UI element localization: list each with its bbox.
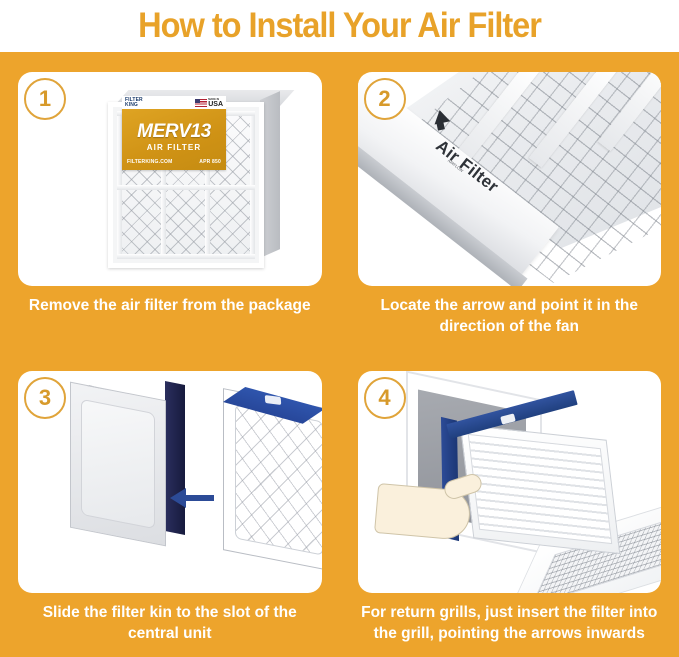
- product-label-panel: MERV13 AIR FILTER FILTERKING.COM APR 850: [122, 108, 226, 170]
- step-1: 1: [0, 52, 340, 351]
- filter-hrib: [117, 185, 255, 190]
- step-2-card: 2 Air Filter AIRFLOW: [358, 72, 662, 286]
- merv13-filter-graphic: MERV13 AIR FILTER FILTERKING.COM APR 850…: [108, 90, 280, 268]
- blue-frame-filter-graphic: [223, 377, 322, 577]
- step-4-badge: 4: [364, 377, 406, 419]
- apr-text: APR 850: [199, 159, 221, 165]
- direction-arrow-icon: [168, 486, 216, 510]
- label-header-strip: FILTER KING MADE IN USA: [122, 96, 226, 109]
- filter-arrow-mark-icon: [265, 394, 282, 404]
- central-unit-slot-graphic: [70, 383, 190, 543]
- step-2: 2 Air Filter AIRFLOW: [340, 52, 679, 351]
- step-2-caption: Locate the arrow and point it in the dir…: [340, 286, 679, 337]
- step-1-caption: Remove the air filter from the package: [0, 286, 340, 316]
- step-3-badge: 3: [24, 377, 66, 419]
- step-4: 4 For return grills, j: [340, 351, 679, 657]
- step-2-badge: 2: [364, 78, 406, 120]
- step-1-card: 1: [18, 72, 322, 286]
- step-3-caption: Slide the filter kin to the slot of the …: [0, 593, 340, 644]
- unit-dark-side: [165, 381, 185, 535]
- air-filter-subtitle: AIR FILTER: [122, 143, 226, 152]
- steps-grid: 1: [0, 52, 679, 657]
- unit-slot-inner: [81, 398, 155, 528]
- step-3-card: 3: [18, 371, 322, 593]
- filter-diamond-mesh: [235, 404, 322, 555]
- header-bar: How to Install Your Air Filter: [0, 0, 679, 52]
- airflow-arrow-tail: [436, 120, 445, 130]
- brand-line-2: KING: [125, 103, 143, 108]
- merv-rating-text: MERV13: [122, 122, 226, 141]
- usa-flag-icon: [195, 99, 207, 107]
- unit-front-face: [70, 381, 166, 546]
- step-4-card: 4: [358, 371, 662, 593]
- page-title: How to Install Your Air Filter: [138, 6, 541, 46]
- step-4-caption: For return grills, just insert the filte…: [340, 593, 679, 644]
- made-in-usa-text: MADE IN USA: [208, 98, 223, 108]
- grill-louvers: [467, 433, 611, 543]
- made-in-usa-mark: MADE IN USA: [195, 98, 223, 108]
- usa-text: USA: [208, 101, 223, 108]
- filter-king-logo: FILTER KING: [125, 98, 143, 108]
- website-text: FILTERKING.COM: [127, 159, 172, 165]
- grill-louver-panel: [459, 423, 620, 553]
- step-1-badge: 1: [24, 78, 66, 120]
- step-3: 3: [0, 351, 340, 657]
- label-footer: FILTERKING.COM APR 850: [127, 159, 221, 165]
- how-to-install-air-filter-infographic: How to Install Your Air Filter 1: [0, 0, 679, 657]
- filter-hrib: [117, 254, 255, 259]
